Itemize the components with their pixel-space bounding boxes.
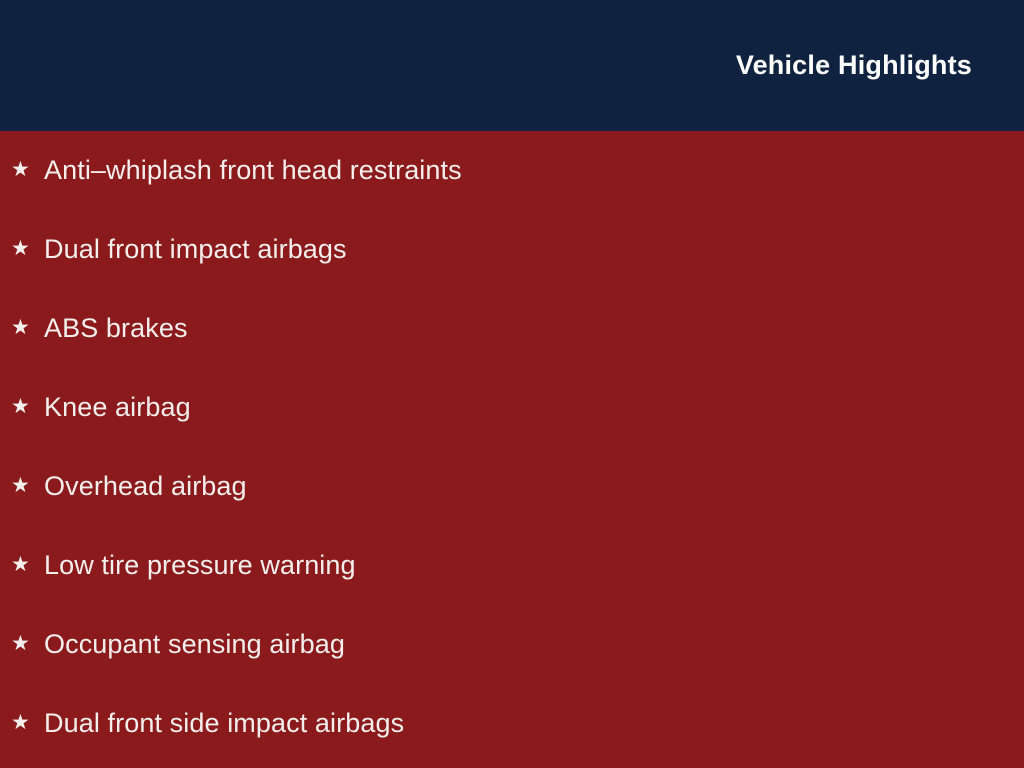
slide-header: Vehicle Highlights	[0, 0, 1024, 131]
star-icon: ★	[11, 633, 44, 654]
feature-label: Anti–whiplash front head restraints	[44, 157, 462, 184]
feature-label: Dual front impact airbags	[44, 236, 347, 263]
list-item: ★ Dual front impact airbags	[11, 232, 347, 266]
star-icon: ★	[11, 317, 44, 338]
star-icon: ★	[11, 159, 44, 180]
star-icon: ★	[11, 554, 44, 575]
feature-label: Dual front side impact airbags	[44, 710, 404, 737]
list-item: ★ Dual front side impact airbags	[11, 706, 404, 740]
feature-label: ABS brakes	[44, 315, 188, 342]
slide-body: ★ Anti–whiplash front head restraints ★ …	[0, 131, 1024, 768]
list-item: ★ Low tire pressure warning	[11, 548, 356, 582]
feature-label: Knee airbag	[44, 394, 191, 421]
feature-label: Overhead airbag	[44, 473, 247, 500]
feature-label: Low tire pressure warning	[44, 552, 356, 579]
page-title: Vehicle Highlights	[736, 52, 972, 79]
star-icon: ★	[11, 396, 44, 417]
list-item: ★ ABS brakes	[11, 311, 188, 345]
star-icon: ★	[11, 238, 44, 259]
list-item: ★ Occupant sensing airbag	[11, 627, 345, 661]
feature-label: Occupant sensing airbag	[44, 631, 345, 658]
list-item: ★ Knee airbag	[11, 390, 191, 424]
star-icon: ★	[11, 475, 44, 496]
vehicle-highlights-slide: Vehicle Highlights ★ Anti–whiplash front…	[0, 0, 1024, 768]
star-icon: ★	[11, 712, 44, 733]
list-item: ★ Overhead airbag	[11, 469, 247, 503]
list-item: ★ Anti–whiplash front head restraints	[11, 153, 462, 187]
